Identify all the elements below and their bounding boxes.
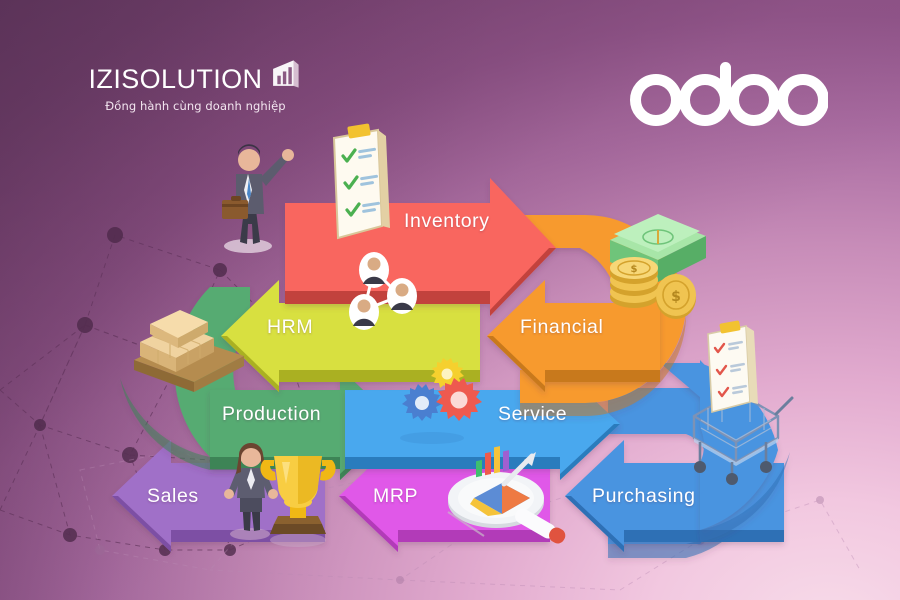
- analytics-magnifier-icon: [448, 446, 568, 546]
- avatar: [349, 294, 379, 330]
- company-name: IZISOLUTION: [89, 66, 263, 93]
- coin-single: $: [656, 274, 696, 319]
- coin-stack: $: [610, 257, 658, 308]
- pallet-boxes-icon: [134, 310, 244, 392]
- izisolution-logo: IZISOLUTION Đồng hành cùng doanh nghiệp: [88, 66, 303, 113]
- gears-icon: [400, 358, 482, 444]
- odoo-logo: [628, 56, 828, 126]
- avatar: [359, 252, 389, 288]
- trophy-icon: [260, 456, 335, 547]
- gear-blue: [402, 384, 442, 421]
- money-cash-coins-icon: $ $: [610, 214, 706, 319]
- bar-chart-arrow-icon: [268, 57, 302, 91]
- svg-text:$: $: [631, 264, 638, 275]
- infographic-canvas: IZISOLUTION Đồng hành cùng doanh nghiệp: [0, 0, 900, 600]
- shopping-cart-icon: [694, 320, 792, 485]
- checklist-clipboard-icon: [334, 123, 390, 238]
- avatar: [387, 278, 417, 314]
- company-tagline: Đồng hành cùng doanh nghiệp: [88, 99, 303, 113]
- people-network-icon: [349, 252, 417, 330]
- illustrations-layer: $ $: [0, 120, 900, 590]
- process-flow-diagram: $ $: [0, 120, 900, 590]
- svg-text:$: $: [671, 289, 681, 305]
- businesswoman-icon: [224, 443, 278, 540]
- businessman-pointing-icon: [222, 144, 294, 253]
